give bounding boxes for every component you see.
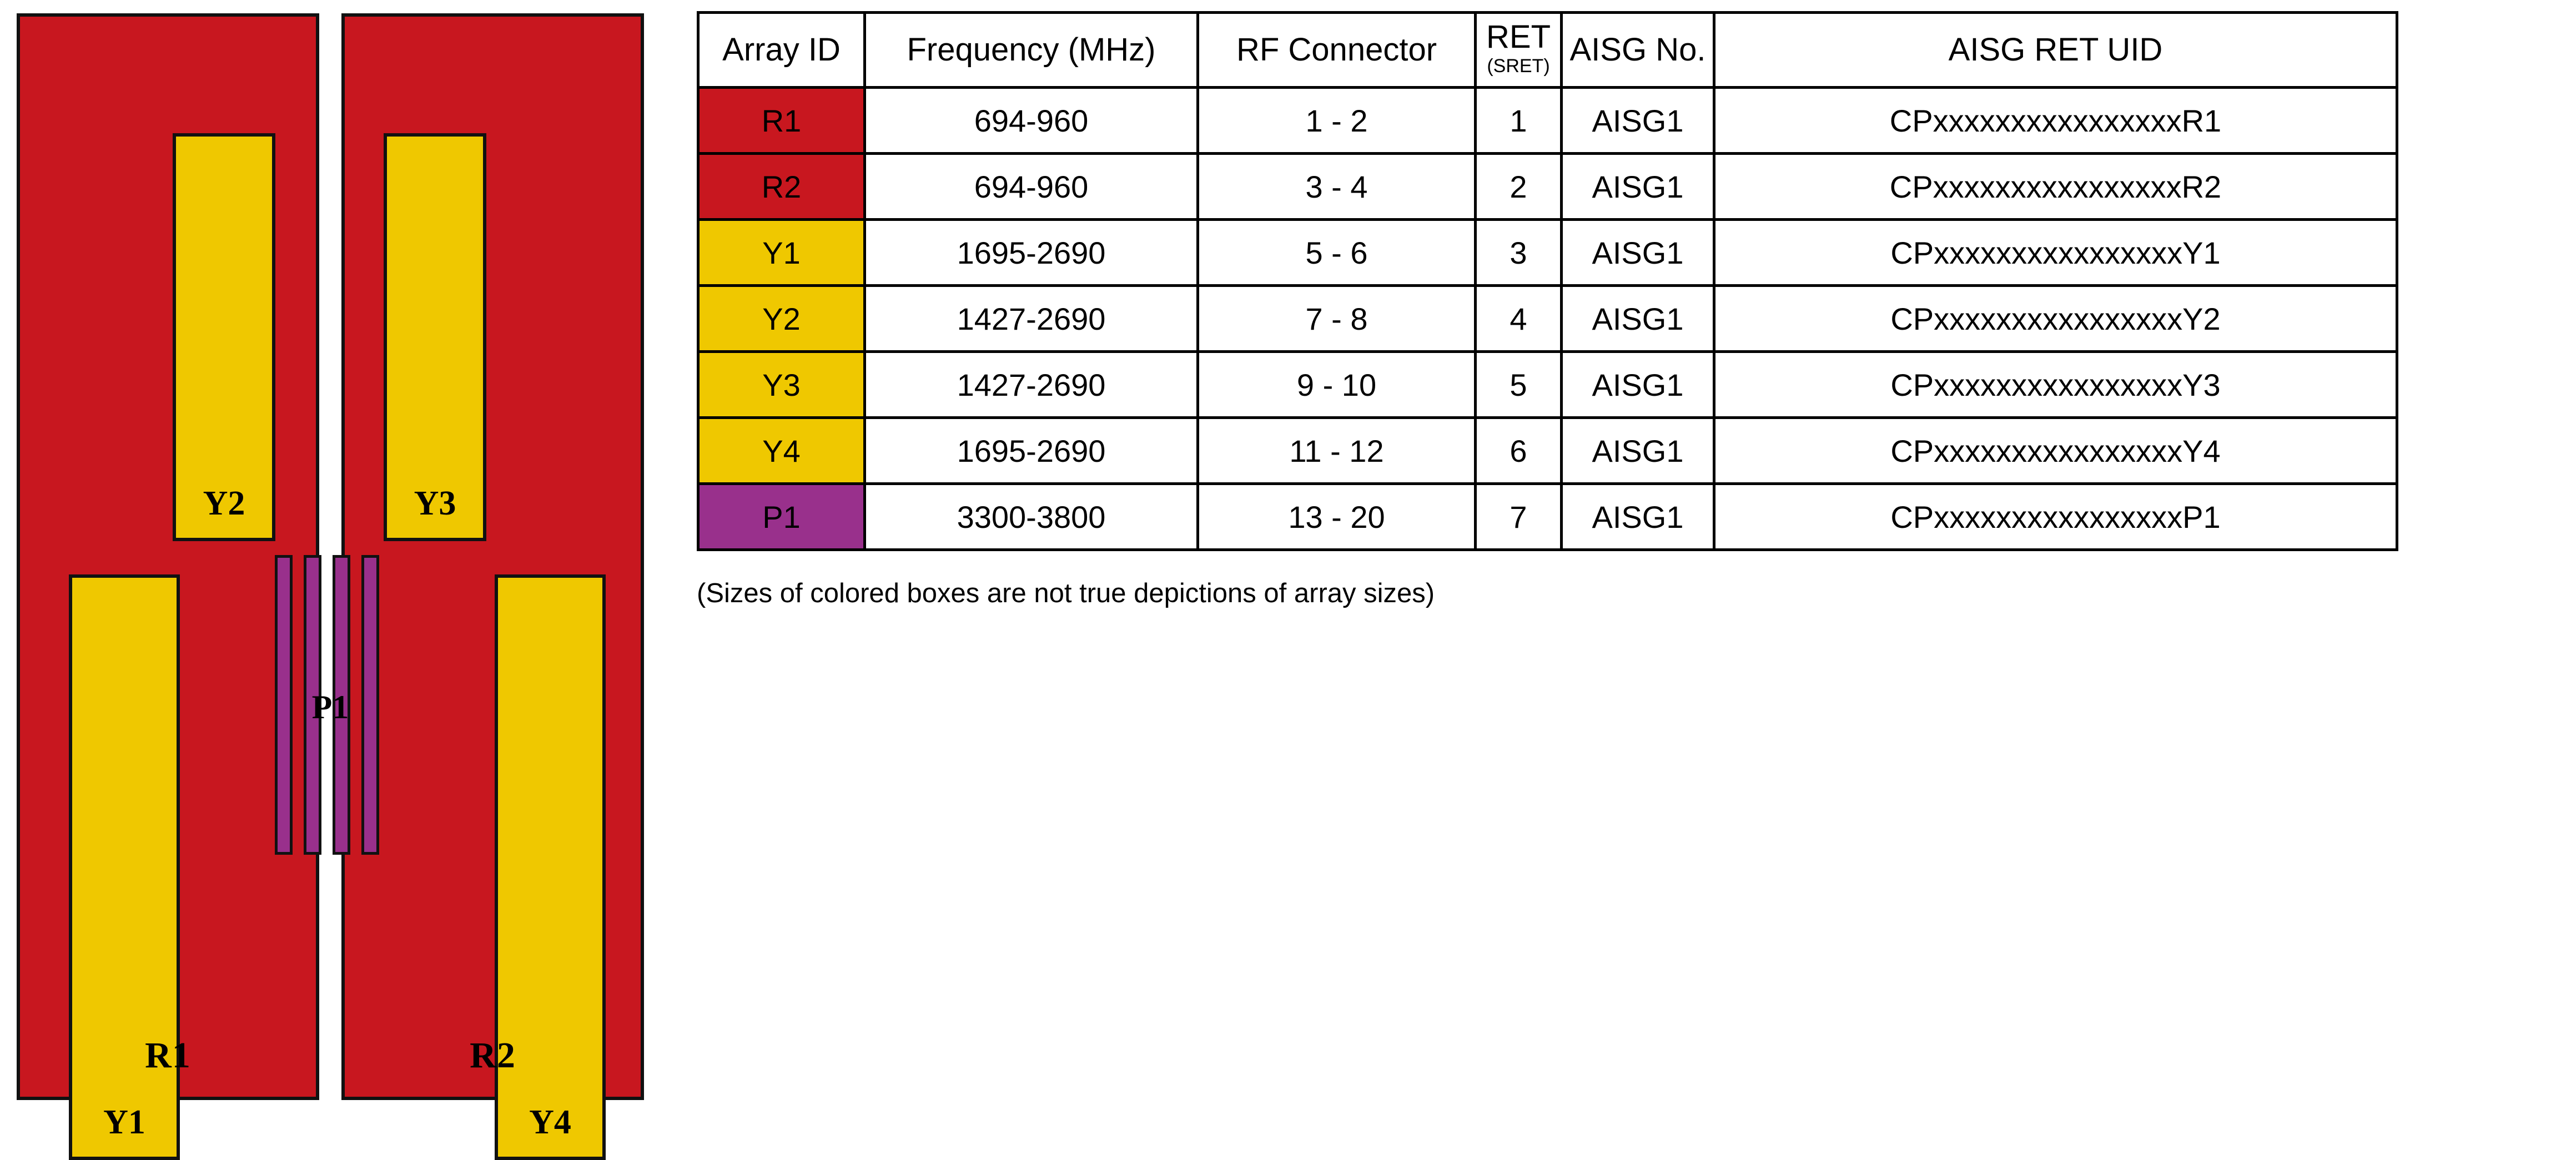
cell-ret: 3 [1476,220,1562,286]
cell-frequency: 1427-2690 [865,286,1198,352]
cell-ret: 4 [1476,286,1562,352]
cell-rf-connector: 11 - 12 [1198,418,1476,484]
cell-array-id: R1 [698,88,865,154]
cell-aisg-no: AISG1 [1562,352,1714,418]
column-header-ret: RET (SRET) [1476,13,1562,88]
column-header-array-id: Array ID [698,13,865,88]
cell-rf-connector: 5 - 6 [1198,220,1476,286]
antenna-panel-r1: Y2 Y1 R1 [17,13,319,1100]
array-box-label-y4: Y4 [498,1103,602,1142]
cell-ret: 1 [1476,88,1562,154]
cell-aisg-no: AISG1 [1562,154,1714,220]
antenna-array-diagram: Y2 Y1 R1 Y3 Y4 R2 P1 [0,0,661,1121]
cell-aisg-no: AISG1 [1562,220,1714,286]
table-row: R1694-9601 - 21AISG1CPxxxxxxxxxxxxxxxxR1 [698,88,2397,154]
table-row: Y21427-26907 - 84AISG1CPxxxxxxxxxxxxxxxx… [698,286,2397,352]
table-header-row: Array ID Frequency (MHz) RF Connector RE… [698,13,2397,88]
cell-frequency: 694-960 [865,88,1198,154]
column-header-ret-main: RET [1486,19,1551,55]
cell-frequency: 3300-3800 [865,484,1198,550]
antenna-panel-r2: Y3 Y4 R2 [341,13,644,1100]
column-header-aisg-ret-uid: AISG RET UID [1714,13,2397,88]
antenna-panel-label-r1: R1 [20,1035,316,1077]
cell-rf-connector: 13 - 20 [1198,484,1476,550]
cell-rf-connector: 7 - 8 [1198,286,1476,352]
cell-rf-connector: 1 - 2 [1198,88,1476,154]
cell-ret: 7 [1476,484,1562,550]
array-group-p1: P1 [275,555,386,855]
cell-aisg-ret-uid: CPxxxxxxxxxxxxxxxxY3 [1714,352,2397,418]
cell-aisg-no: AISG1 [1562,286,1714,352]
cell-rf-connector: 9 - 10 [1198,352,1476,418]
cell-ret: 2 [1476,154,1562,220]
cell-aisg-ret-uid: CPxxxxxxxxxxxxxxxxY4 [1714,418,2397,484]
cell-aisg-ret-uid: CPxxxxxxxxxxxxxxxxY2 [1714,286,2397,352]
column-header-frequency: Frequency (MHz) [865,13,1198,88]
array-box-label-y3: Y3 [387,484,483,523]
array-box-y3: Y3 [384,133,486,541]
cell-aisg-ret-uid: CPxxxxxxxxxxxxxxxxR2 [1714,154,2397,220]
cell-ret: 5 [1476,352,1562,418]
cell-array-id: Y1 [698,220,865,286]
cell-frequency: 1427-2690 [865,352,1198,418]
column-header-ret-sub: (SRET) [1477,54,1560,79]
table-row: R2694-9603 - 42AISG1CPxxxxxxxxxxxxxxxxR2 [698,154,2397,220]
cell-aisg-ret-uid: CPxxxxxxxxxxxxxxxxP1 [1714,484,2397,550]
cell-array-id: Y2 [698,286,865,352]
cell-aisg-ret-uid: CPxxxxxxxxxxxxxxxxY1 [1714,220,2397,286]
antenna-panel-label-r2: R2 [345,1035,641,1077]
table-row: Y31427-26909 - 105AISG1CPxxxxxxxxxxxxxxx… [698,352,2397,418]
cell-aisg-ret-uid: CPxxxxxxxxxxxxxxxxR1 [1714,88,2397,154]
ret-configuration-table: Array ID Frequency (MHz) RF Connector RE… [697,11,2398,551]
cell-rf-connector: 3 - 4 [1198,154,1476,220]
cell-array-id: P1 [698,484,865,550]
table-row: Y11695-26905 - 63AISG1CPxxxxxxxxxxxxxxxx… [698,220,2397,286]
cell-array-id: Y4 [698,418,865,484]
array-group-label-p1: P1 [275,688,386,727]
ret-table-region: Array ID Frequency (MHz) RF Connector RE… [697,11,2418,609]
cell-frequency: 694-960 [865,154,1198,220]
column-header-aisg-no: AISG No. [1562,13,1714,88]
array-box-y2: Y2 [173,133,275,541]
cell-frequency: 1695-2690 [865,220,1198,286]
table-row: P13300-380013 - 207AISG1CPxxxxxxxxxxxxxx… [698,484,2397,550]
cell-array-id: Y3 [698,352,865,418]
array-box-label-y2: Y2 [176,484,272,523]
cell-array-id: R2 [698,154,865,220]
column-header-rf-connector: RF Connector [1198,13,1476,88]
array-box-label-y1: Y1 [72,1103,177,1142]
cell-frequency: 1695-2690 [865,418,1198,484]
table-row: Y41695-269011 - 126AISG1CPxxxxxxxxxxxxxx… [698,418,2397,484]
cell-aisg-no: AISG1 [1562,484,1714,550]
cell-aisg-no: AISG1 [1562,418,1714,484]
cell-aisg-no: AISG1 [1562,88,1714,154]
table-footnote: (Sizes of colored boxes are not true dep… [697,578,2418,609]
cell-ret: 6 [1476,418,1562,484]
